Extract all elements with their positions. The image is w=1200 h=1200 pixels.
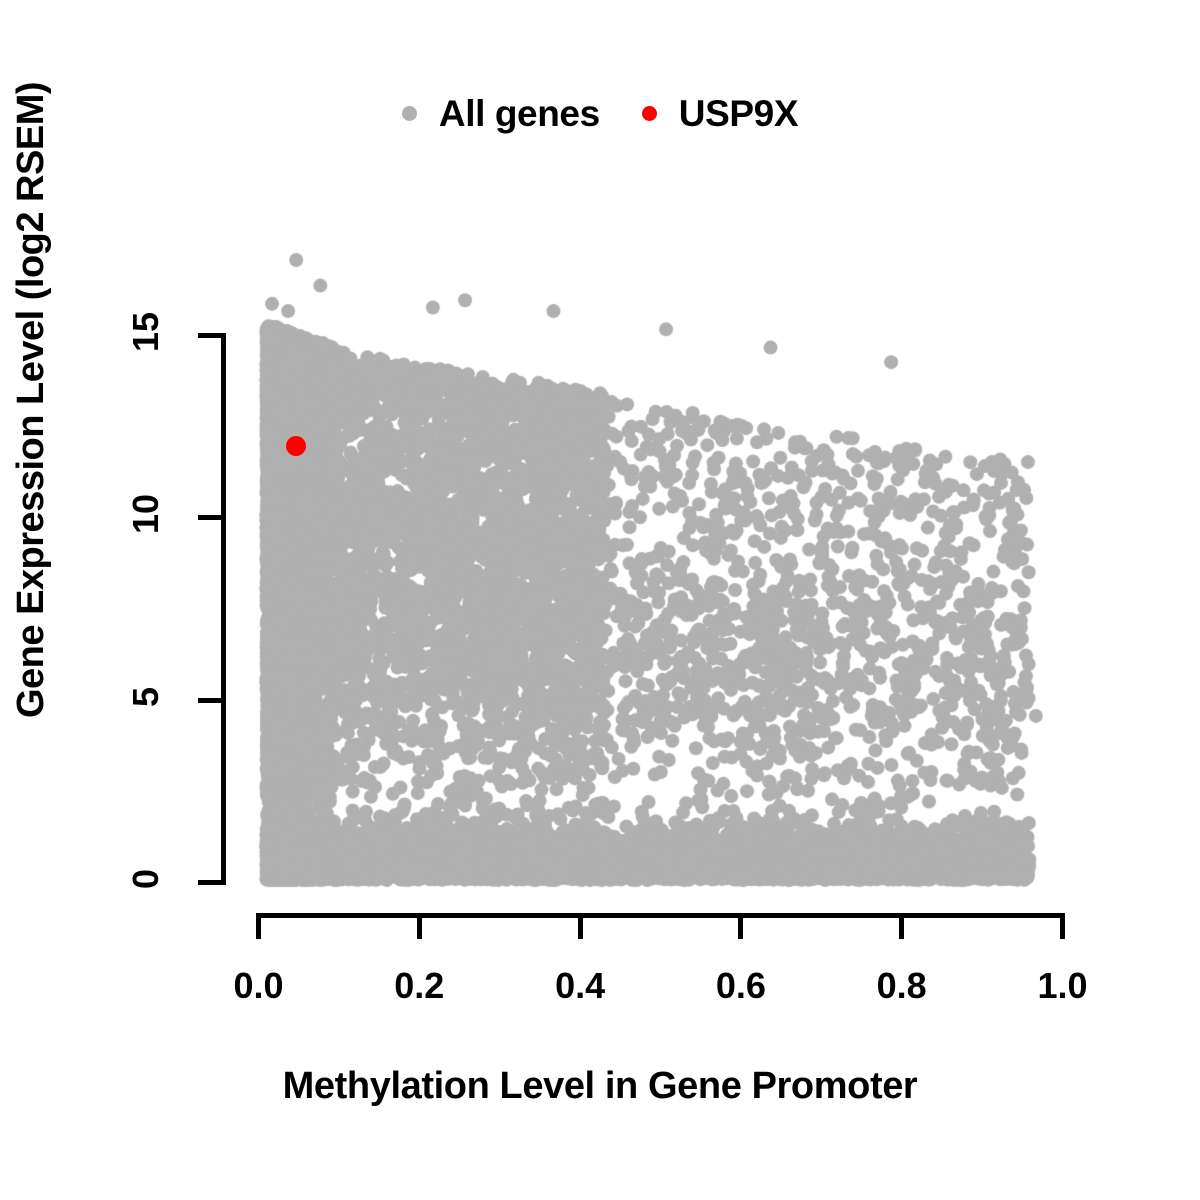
x-axis-tick-label: 0.8 bbox=[854, 965, 949, 1007]
y-axis-tick-label: 0 bbox=[125, 834, 167, 924]
scatter-point-cloud bbox=[0, 0, 1200, 1200]
x-axis-tick bbox=[578, 913, 583, 939]
y-axis-tick bbox=[198, 698, 222, 703]
x-axis-tick-label: 0.6 bbox=[693, 965, 788, 1007]
y-axis-tick bbox=[198, 880, 222, 885]
y-axis-tick-label: 10 bbox=[125, 469, 167, 559]
y-axis-tick-label: 15 bbox=[125, 287, 167, 377]
x-axis-tick-label: 0.4 bbox=[533, 965, 628, 1007]
x-axis-tick bbox=[256, 913, 261, 939]
x-axis-tick-label: 0.2 bbox=[372, 965, 467, 1007]
x-axis-tick bbox=[899, 913, 904, 939]
x-axis-line bbox=[256, 913, 1065, 918]
y-axis-tick-label: 5 bbox=[125, 652, 167, 742]
x-axis-tick bbox=[417, 913, 422, 939]
scatter-plot-figure: All genes USP9X Gene Expression Level (l… bbox=[0, 0, 1200, 1200]
x-axis-tick bbox=[738, 913, 743, 939]
x-axis-tick-label: 1.0 bbox=[1015, 965, 1110, 1007]
y-axis-tick bbox=[198, 333, 222, 338]
x-axis-tick bbox=[1060, 913, 1065, 939]
y-axis-tick bbox=[198, 515, 222, 520]
x-axis-tick-label: 0.0 bbox=[211, 965, 306, 1007]
y-axis-line bbox=[221, 333, 226, 885]
